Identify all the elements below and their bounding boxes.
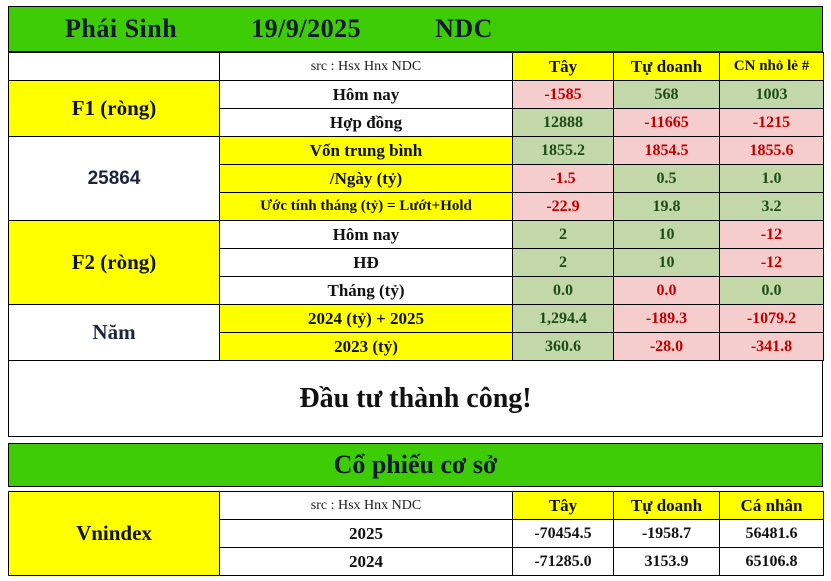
underlying-banner: Cổ phiếu cơ sở <box>8 443 823 487</box>
underlying-group-label: Vnindex <box>9 492 220 576</box>
value-cell: 3153.9 <box>614 548 720 576</box>
group-label-1: 25864 <box>9 137 220 221</box>
row-label: Hợp đồng <box>220 109 513 137</box>
value-cell: 360.6 <box>513 333 614 361</box>
value-cell: -189.3 <box>614 305 720 333</box>
report-date: 19/9/2025 <box>251 14 361 44</box>
column-header-tay: Tây <box>513 492 614 520</box>
row-label: 2023 (tỷ) <box>220 333 513 361</box>
value-cell: 1854.5 <box>614 137 720 165</box>
value-cell: 0.0 <box>720 277 824 305</box>
column-header-ca-nhan: Cá nhân <box>720 492 824 520</box>
value-cell: 10 <box>614 221 720 249</box>
value-cell: -1958.7 <box>614 520 720 548</box>
table-row: 25864Vốn trung bình1855.21854.51855.6 <box>9 137 824 165</box>
header-banner: Phái Sinh 19/9/2025 NDC <box>8 6 823 52</box>
value-cell: -12 <box>720 249 824 277</box>
value-cell: -1.5 <box>513 165 614 193</box>
value-cell: 2 <box>513 221 614 249</box>
value-cell: 1855.6 <box>720 137 824 165</box>
value-cell: 19.8 <box>614 193 720 221</box>
value-cell: 65106.8 <box>720 548 824 576</box>
row-label: 2024 (tỷ) + 2025 <box>220 305 513 333</box>
value-cell: -28.0 <box>614 333 720 361</box>
row-label: Tháng (tỷ) <box>220 277 513 305</box>
table-header-row: Vnindexsrc : Hsx Hnx NDCTâyTự doanhCá nh… <box>9 492 824 520</box>
row-label: Hôm nay <box>220 221 513 249</box>
row-label: HĐ <box>220 249 513 277</box>
value-cell: 2 <box>513 249 614 277</box>
value-cell: 1.0 <box>720 165 824 193</box>
value-cell: -70454.5 <box>513 520 614 548</box>
value-cell: 3.2 <box>720 193 824 221</box>
value-cell: 1003 <box>720 81 824 109</box>
value-cell: 56481.6 <box>720 520 824 548</box>
value-cell: 0.0 <box>614 277 720 305</box>
value-cell: -71285.0 <box>513 548 614 576</box>
value-cell: -12 <box>720 221 824 249</box>
group-label-2: F2 (ròng) <box>9 221 220 305</box>
table-header-row: src : Hsx Hnx NDCTâyTự doanhCN nhỏ lẻ # <box>9 53 824 81</box>
underlying-table: Vnindexsrc : Hsx Hnx NDCTâyTự doanhCá nh… <box>8 491 824 576</box>
value-cell: 1855.2 <box>513 137 614 165</box>
value-cell: -22.9 <box>513 193 614 221</box>
underlying-banner-text: Cổ phiếu cơ sở <box>334 450 498 480</box>
slogan-band: Đầu tư thành công! <box>8 361 823 437</box>
row-label: /Ngày (tỷ) <box>220 165 513 193</box>
group-label-3: Năm <box>9 305 220 361</box>
value-cell: 0.5 <box>614 165 720 193</box>
source-label: src : Hsx Hnx NDC <box>220 492 513 520</box>
source-label: src : Hsx Hnx NDC <box>220 53 513 81</box>
row-label: Vốn trung bình <box>220 137 513 165</box>
column-header-cn-nho-le: CN nhỏ lẻ # <box>720 53 824 81</box>
value-cell: 10 <box>614 249 720 277</box>
value-cell: -11665 <box>614 109 720 137</box>
column-header-tu-doanh: Tự doanh <box>614 492 720 520</box>
derivatives-table: src : Hsx Hnx NDCTâyTự doanhCN nhỏ lẻ #F… <box>8 52 824 361</box>
table-row: F2 (ròng)Hôm nay210-12 <box>9 221 824 249</box>
header-blank-cell <box>9 53 220 81</box>
value-cell: -341.8 <box>720 333 824 361</box>
value-cell: 568 <box>614 81 720 109</box>
column-header-tay: Tây <box>513 53 614 81</box>
slogan-text: Đầu tư thành công! <box>299 383 531 415</box>
value-cell: 1,294.4 <box>513 305 614 333</box>
table-row: Năm2024 (tỷ) + 20251,294.4-189.3-1079.2 <box>9 305 824 333</box>
value-cell: 12888 <box>513 109 614 137</box>
value-cell: -1585 <box>513 81 614 109</box>
table-row: F1 (ròng)Hôm nay-15855681003 <box>9 81 824 109</box>
value-cell: -1079.2 <box>720 305 824 333</box>
row-label: Ước tính tháng (tỷ) = Lướt+Hold <box>220 193 513 221</box>
column-header-tu-doanh: Tự doanh <box>614 53 720 81</box>
report-code: NDC <box>435 14 493 44</box>
value-cell: 0.0 <box>513 277 614 305</box>
page-title: Phái Sinh <box>65 14 177 44</box>
report-page: Phái Sinh 19/9/2025 NDC src : Hsx Hnx ND… <box>0 6 831 581</box>
row-label: 2025 <box>220 520 513 548</box>
value-cell: -1215 <box>720 109 824 137</box>
row-label: Hôm nay <box>220 81 513 109</box>
group-label-0: F1 (ròng) <box>9 81 220 137</box>
row-label: 2024 <box>220 548 513 576</box>
